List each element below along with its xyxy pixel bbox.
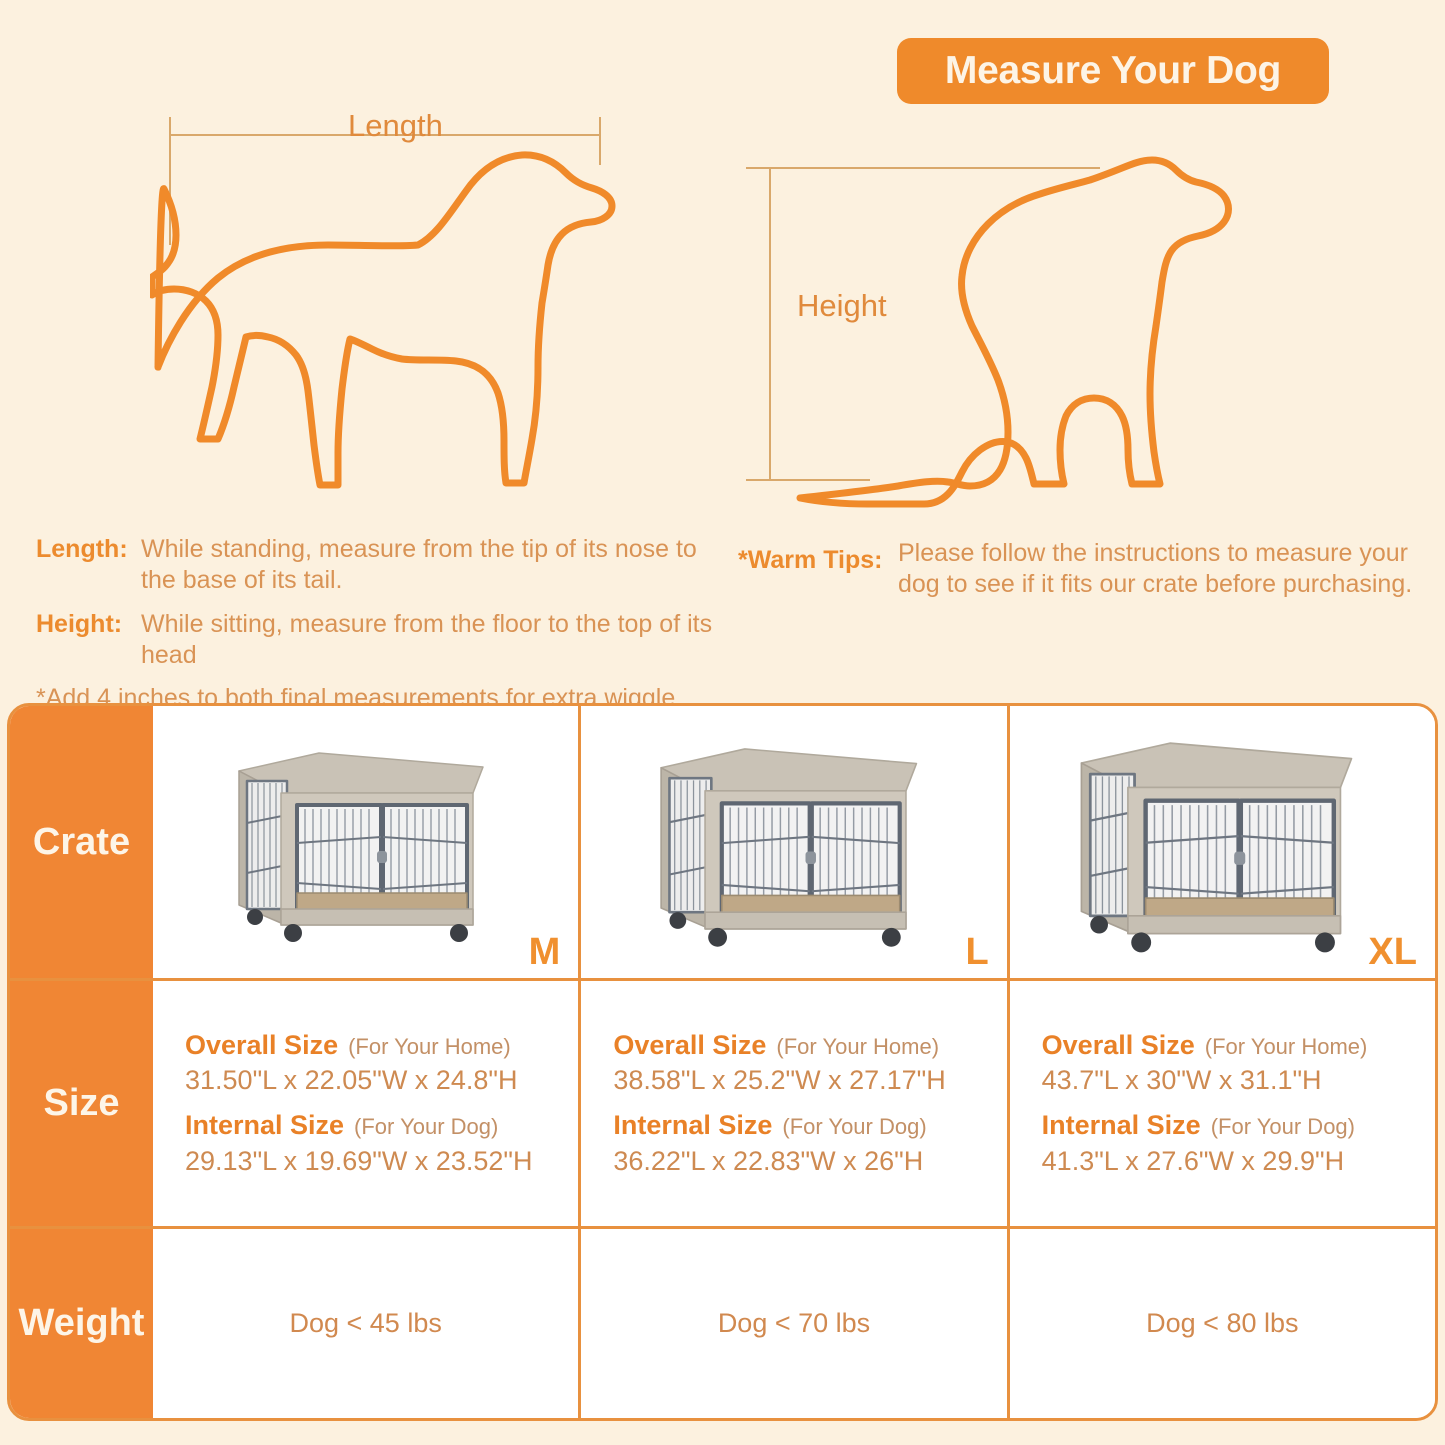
overall-size-group-l: Overall Size(For Your Home) 38.58"L x 25… bbox=[613, 1028, 1006, 1099]
overall-size-group-m: Overall Size(For Your Home) 31.50"L x 22… bbox=[185, 1028, 578, 1099]
definition-desc-length: While standing, measure from the tip of … bbox=[141, 534, 726, 595]
internal-size-label-xl: Internal Size bbox=[1042, 1110, 1201, 1140]
measure-your-dog-badge: Measure Your Dog bbox=[897, 38, 1329, 104]
row-header-crate: Crate bbox=[10, 706, 153, 978]
overall-size-group-xl: Overall Size(For Your Home) 43.7"L x 30"… bbox=[1042, 1028, 1435, 1099]
internal-size-value-l: 36.22"L x 22.83"W x 26"H bbox=[613, 1144, 1006, 1180]
length-measure-label: Length bbox=[348, 108, 443, 144]
weight-value-m: Dog < 45 lbs bbox=[289, 1308, 441, 1339]
internal-size-paren-l: (For Your Dog) bbox=[782, 1114, 926, 1139]
size-cells: Overall Size(For Your Home) 31.50"L x 22… bbox=[153, 981, 1435, 1226]
height-measure-label: Height bbox=[797, 288, 887, 324]
definition-term-length: Length: bbox=[36, 534, 141, 595]
size-tag-xl: XL bbox=[1368, 931, 1417, 974]
internal-size-label-l: Internal Size bbox=[613, 1110, 772, 1140]
internal-size-value-xl: 41.3"L x 27.6"W x 29.9"H bbox=[1042, 1144, 1435, 1180]
definition-row-length: Length: While standing, measure from the… bbox=[36, 534, 726, 595]
crate-cell-m: M bbox=[153, 706, 578, 978]
size-cell-l: Overall Size(For Your Home) 38.58"L x 25… bbox=[578, 981, 1006, 1226]
internal-size-paren-m: (For Your Dog) bbox=[354, 1114, 498, 1139]
row-header-size: Size bbox=[10, 981, 153, 1226]
dog-crate-icon bbox=[1042, 721, 1402, 959]
internal-size-paren-xl: (For Your Dog) bbox=[1211, 1114, 1355, 1139]
definition-term-height: Height: bbox=[36, 609, 141, 670]
overall-size-paren-xl: (For Your Home) bbox=[1205, 1034, 1368, 1059]
internal-size-group-m: Internal Size(For Your Dog) 29.13"L x 19… bbox=[185, 1108, 578, 1179]
standing-dog-illustration bbox=[150, 105, 650, 515]
row-header-weight: Weight bbox=[10, 1229, 153, 1418]
table-row-size: Size Overall Size(For Your Home) 31.50"L… bbox=[10, 978, 1435, 1226]
internal-size-group-xl: Internal Size(For Your Dog) 41.3"L x 27.… bbox=[1042, 1108, 1435, 1179]
size-cell-m: Overall Size(For Your Home) 31.50"L x 22… bbox=[153, 981, 578, 1226]
size-tag-m: M bbox=[529, 931, 561, 974]
internal-size-group-l: Internal Size(For Your Dog) 36.22"L x 22… bbox=[613, 1108, 1006, 1179]
crate-cell-l: L bbox=[578, 706, 1006, 978]
overall-size-label-xl: Overall Size bbox=[1042, 1030, 1195, 1060]
dog-crate-icon bbox=[221, 733, 511, 948]
sitting-dog-illustration bbox=[740, 150, 1240, 510]
crate-cell-xl: XL bbox=[1007, 706, 1435, 978]
weight-value-l: Dog < 70 lbs bbox=[718, 1308, 870, 1339]
warm-tips-term: *Warm Tips: bbox=[738, 538, 898, 599]
size-tag-l: L bbox=[965, 931, 988, 974]
badge-title: Measure Your Dog bbox=[945, 49, 1281, 93]
size-cell-xl: Overall Size(For Your Home) 43.7"L x 30"… bbox=[1007, 981, 1435, 1226]
overall-size-paren-m: (For Your Home) bbox=[348, 1034, 511, 1059]
weight-cell-xl: Dog < 80 lbs bbox=[1007, 1229, 1435, 1418]
weight-cell-l: Dog < 70 lbs bbox=[578, 1229, 1006, 1418]
standing-dog-outline-icon bbox=[150, 105, 650, 515]
internal-size-value-m: 29.13"L x 19.69"W x 23.52"H bbox=[185, 1144, 578, 1180]
overall-size-label-m: Overall Size bbox=[185, 1030, 338, 1060]
weight-cell-m: Dog < 45 lbs bbox=[153, 1229, 578, 1418]
dog-crate-icon bbox=[629, 728, 959, 953]
table-row-crate: Crate bbox=[10, 706, 1435, 978]
crate-cells: M bbox=[153, 706, 1435, 978]
overall-size-value-xl: 43.7"L x 30"W x 31.1"H bbox=[1042, 1063, 1435, 1099]
internal-size-label-m: Internal Size bbox=[185, 1110, 344, 1140]
sitting-dog-outline-icon bbox=[740, 150, 1240, 510]
overall-size-value-m: 31.50"L x 22.05"W x 24.8"H bbox=[185, 1063, 578, 1099]
definition-row-height: Height: While sitting, measure from the … bbox=[36, 609, 726, 670]
table-row-weight: Weight Dog < 45 lbs Dog < 70 lbs Dog < 8… bbox=[10, 1226, 1435, 1418]
overall-size-value-l: 38.58"L x 25.2"W x 27.17"H bbox=[613, 1063, 1006, 1099]
crate-spec-table: Crate bbox=[7, 703, 1438, 1421]
warm-tips-desc: Please follow the instructions to measur… bbox=[898, 538, 1428, 599]
definition-desc-height: While sitting, measure from the floor to… bbox=[141, 609, 726, 670]
overall-size-paren-l: (For Your Home) bbox=[776, 1034, 939, 1059]
weight-value-xl: Dog < 80 lbs bbox=[1146, 1308, 1298, 1339]
warm-tips: *Warm Tips: Please follow the instructio… bbox=[738, 538, 1428, 599]
weight-cells: Dog < 45 lbs Dog < 70 lbs Dog < 80 lbs bbox=[153, 1229, 1435, 1418]
overall-size-label-l: Overall Size bbox=[613, 1030, 766, 1060]
